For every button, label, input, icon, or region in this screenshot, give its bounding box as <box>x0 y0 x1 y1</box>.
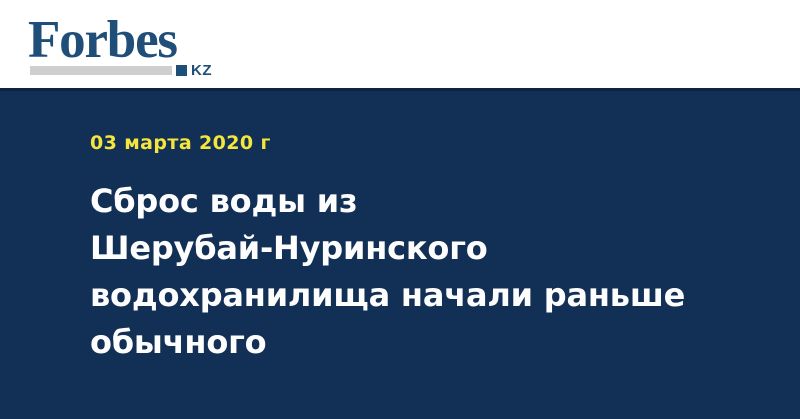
article-panel: 03 марта 2020 г Сброс воды из Шерубай-Ну… <box>0 91 800 419</box>
kz-locale-label: KZ <box>191 63 212 78</box>
article-card: Forbes KZ 03 марта 2020 г Сброс воды из … <box>0 0 800 419</box>
article-date: 03 марта 2020 г <box>90 132 271 154</box>
kz-square-icon <box>176 65 187 76</box>
site-header: Forbes KZ <box>0 0 800 88</box>
headline-line: Шерубай-Нуринского <box>90 225 730 272</box>
logo-underline-bar <box>30 66 172 75</box>
forbes-kz-logo[interactable]: Forbes KZ <box>28 14 228 76</box>
headline-line: обычного <box>90 319 730 366</box>
article-headline[interactable]: Сброс воды из Шерубай-Нуринского водохра… <box>90 178 730 366</box>
forbes-wordmark: Forbes <box>28 14 177 67</box>
headline-line: Сброс воды из <box>90 178 730 225</box>
headline-line: водохранилища начали раньше <box>90 272 730 319</box>
